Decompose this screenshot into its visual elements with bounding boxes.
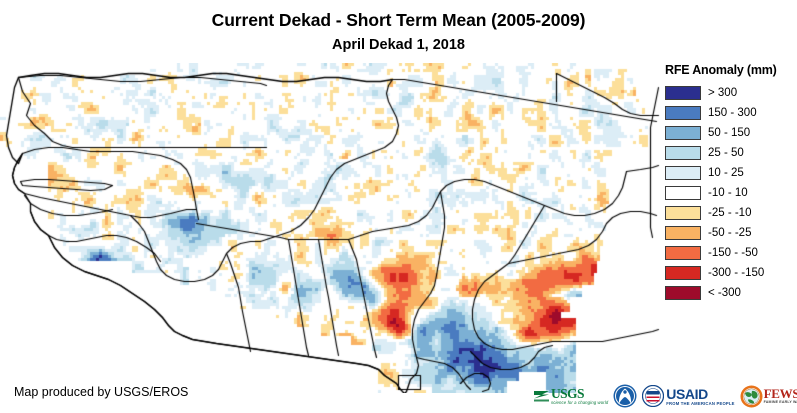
fewsnet-tagline: FAMINE EARLY WARNING SYSTEMS NETWORK	[764, 400, 797, 405]
legend-label: > 300	[708, 87, 737, 100]
noaa-logo[interactable]	[613, 382, 637, 410]
legend-swatch	[665, 286, 701, 300]
legend-item: > 300	[658, 83, 797, 103]
legend-rows: > 300150 - 30050 - 15025 - 5010 - 25-10 …	[658, 83, 797, 303]
legend-item: -150 - -50	[658, 243, 797, 263]
legend-title: RFE Anomaly (mm)	[665, 63, 797, 77]
usgs-logo[interactable]: USGS science for a changing world	[533, 382, 608, 410]
legend-label: < -300	[708, 287, 741, 300]
legend: RFE Anomaly (mm) > 300150 - 30050 - 1502…	[658, 63, 797, 303]
legend-swatch	[665, 226, 701, 240]
legend-item: < -300	[658, 283, 797, 303]
fewsnet-globe-icon	[740, 385, 763, 408]
legend-item: 25 - 50	[658, 143, 797, 163]
legend-item: 10 - 25	[658, 163, 797, 183]
legend-label: 150 - 300	[708, 107, 757, 120]
legend-item: -50 - -25	[658, 223, 797, 243]
legend-label: -10 - 10	[708, 187, 748, 200]
legend-swatch	[665, 86, 701, 100]
page-subtitle: April Dekad 1, 2018	[0, 37, 797, 54]
usgs-mark-icon	[533, 389, 550, 404]
map-panel[interactable]	[0, 63, 660, 393]
rfe-anomaly-map[interactable]	[0, 63, 660, 393]
legend-swatch	[665, 206, 701, 220]
legend-label: -150 - -50	[708, 247, 758, 260]
usgs-tagline: science for a changing world	[551, 400, 608, 405]
legend-swatch	[665, 126, 701, 140]
fewsnet-wordmark: FEWS NET	[764, 387, 797, 400]
noaa-seal-icon	[613, 384, 637, 408]
legend-swatch	[665, 106, 701, 120]
legend-label: -25 - -10	[708, 207, 751, 220]
legend-label: -50 - -25	[708, 227, 751, 240]
legend-item: 50 - 150	[658, 123, 797, 143]
legend-swatch	[665, 186, 701, 200]
legend-swatch	[665, 166, 701, 180]
usaid-logo[interactable]: USAID FROM THE AMERICAN PEOPLE	[642, 382, 734, 410]
legend-label: 50 - 150	[708, 127, 750, 140]
fewsnet-logo[interactable]: FEWS NET FAMINE EARLY WARNING SYSTEMS NE…	[740, 382, 797, 410]
legend-item: -10 - 10	[658, 183, 797, 203]
legend-item: -25 - -10	[658, 203, 797, 223]
page-title: Current Dekad - Short Term Mean (2005-20…	[0, 10, 797, 30]
legend-label: 10 - 25	[708, 167, 744, 180]
map-page: Current Dekad - Short Term Mean (2005-20…	[0, 0, 797, 413]
legend-swatch	[665, 146, 701, 160]
logo-bar: USGS science for a changing world	[533, 381, 795, 411]
legend-label: 25 - 50	[708, 147, 744, 160]
legend-label: -300 - -150	[708, 267, 764, 280]
map-credit: Map produced by USGS/EROS	[14, 385, 188, 399]
legend-swatch	[665, 246, 701, 260]
usgs-wordmark: USGS	[551, 387, 608, 400]
usaid-tagline: FROM THE AMERICAN PEOPLE	[666, 401, 734, 406]
legend-item: -300 - -150	[658, 263, 797, 283]
usaid-seal-icon	[642, 385, 664, 407]
title-block: Current Dekad - Short Term Mean (2005-20…	[0, 0, 797, 54]
usaid-wordmark: USAID	[666, 387, 734, 401]
legend-item: 150 - 300	[658, 103, 797, 123]
legend-swatch	[665, 266, 701, 280]
